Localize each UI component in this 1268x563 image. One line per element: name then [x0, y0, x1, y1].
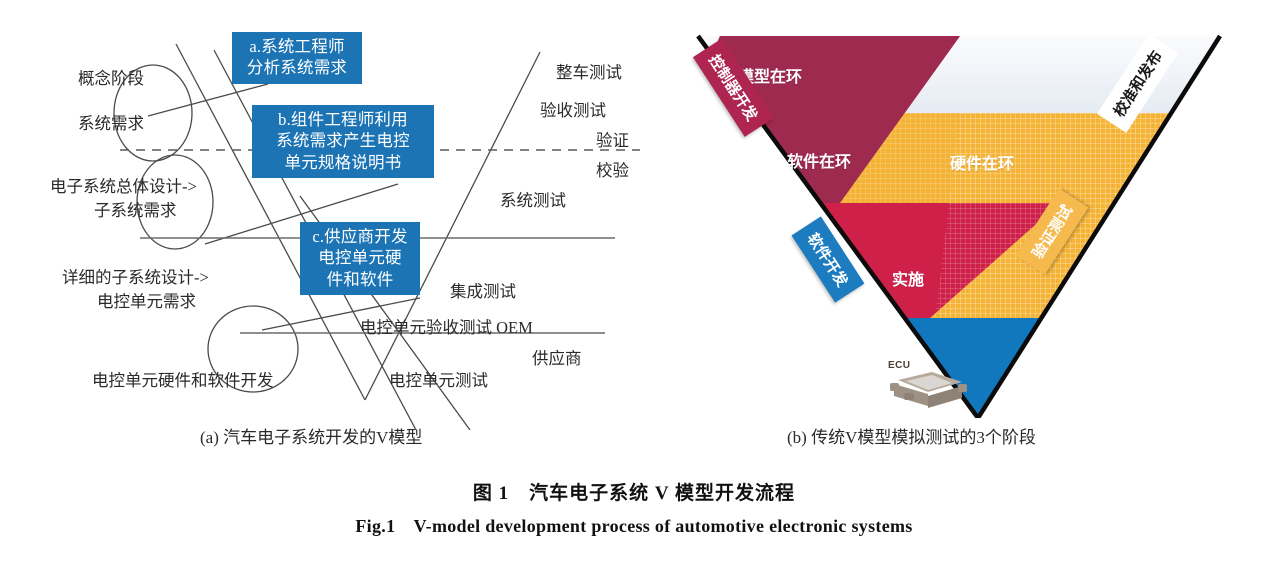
label-ecu-hw-sw-development: 电控单元硬件和软件开发 [92, 370, 274, 391]
callout-box-c: c.供应商开发 电控单元硬 件和软件 [300, 222, 420, 295]
label-detailed-subsystem-design: 详细的子系统设计-> [62, 267, 209, 288]
label-validation: 验证 [596, 130, 629, 151]
stage-label-hardware-in-loop: 硬件在环 [950, 150, 1014, 174]
label-acceptance-test: 验收测试 [540, 100, 606, 121]
label-supplier: 供应商 [532, 348, 582, 369]
label-electronic-system-design: 电子系统总体设计-> [50, 176, 197, 197]
label-subsystem-requirements: 子系统需求 [94, 200, 177, 221]
ecu-label: ECU [888, 360, 910, 371]
label-ecu-acceptance-test-oem: 电控单元验收测试 OEM [360, 317, 533, 338]
band-implementation [660, 318, 1260, 418]
label-ecu-requirements: 电控单元需求 [97, 291, 196, 312]
figure-caption-cn: 图 1 汽车电子系统 V 模型开发流程 [0, 478, 1268, 505]
callout-box-b: b.组件工程师利用 系统需求产生电控 单元规格说明书 [252, 105, 434, 178]
label-system-requirements: 系统需求 [78, 113, 144, 134]
connector-a [148, 84, 268, 116]
subcaption-a: (a) 汽车电子系统开发的V模型 [200, 423, 422, 448]
figure-container: 概念阶段 系统需求 电子系统总体设计-> 子系统需求 详细的子系统设计-> 电控… [0, 0, 1268, 563]
callout-box-a: a.系统工程师 分析系统需求 [232, 32, 362, 84]
label-vehicle-test: 整车测试 [556, 62, 622, 83]
label-verification: 校验 [596, 160, 629, 181]
band-hardware-grid-overlay [935, 113, 1260, 318]
figure-caption-en: Fig.1 V-model development process of aut… [0, 512, 1268, 538]
label-concept-phase: 概念阶段 [78, 68, 144, 89]
stage-label-implementation: 实施 [892, 266, 924, 290]
label-ecu-test: 电控单元测试 [389, 370, 488, 391]
subcaption-b: (b) 传统V模型模拟测试的3个阶段 [787, 423, 1036, 448]
stage-label-software-in-loop: 软件在环 [787, 148, 851, 172]
panel-b-diagram: 模型在环 软件在环 硬件在环 实施 控制器开发 软件开发 验证测试 校准和发布 … [660, 18, 1260, 418]
label-integration-test: 集成测试 [450, 281, 516, 302]
label-system-test: 系统测试 [500, 190, 566, 211]
